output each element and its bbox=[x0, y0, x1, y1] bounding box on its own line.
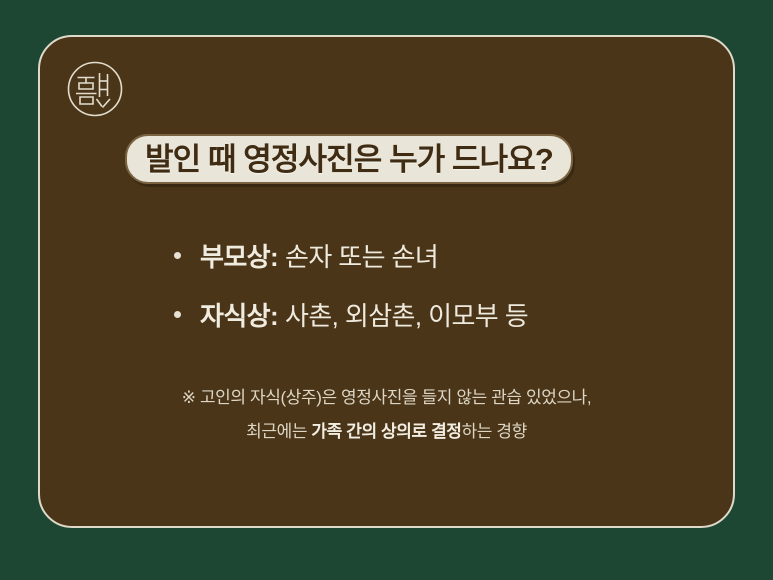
answer-bullet-list: 부모상: 손자 또는 손녀 자식상: 사촌, 외삼촌, 이모부 등 bbox=[174, 237, 694, 355]
content-card: 발인 때 영정사진은 누가 드나요? 부모상: 손자 또는 손녀 자식상: 사촌… bbox=[38, 35, 735, 528]
footnote-line-2: 최근에는 가족 간의 상의로 결정하는 경향 bbox=[40, 423, 733, 440]
list-item: 부모상: 손자 또는 손녀 bbox=[174, 237, 694, 274]
slide-canvas: 발인 때 영정사진은 누가 드나요? 부모상: 손자 또는 손녀 자식상: 사촌… bbox=[0, 0, 773, 580]
footnote-line-2-suffix: 하는 경향 bbox=[462, 422, 527, 441]
bullet-term: 부모상: bbox=[200, 237, 278, 274]
brand-emblem-logo bbox=[66, 60, 124, 118]
footnote-line-1-text: 고인의 자식(상주)은 영정사진을 들지 않는 관습 있었으나, bbox=[200, 388, 591, 407]
bullet-term: 자식상: bbox=[200, 296, 278, 333]
footnote-line-1: ※ 고인의 자식(상주)은 영정사진을 들지 않는 관습 있었으나, bbox=[40, 389, 733, 406]
bullet-dot-icon bbox=[174, 252, 181, 259]
bullet-description: 사촌, 외삼촌, 이모부 등 bbox=[285, 296, 528, 333]
bullet-dot-icon bbox=[174, 311, 181, 318]
footnote-block: ※ 고인의 자식(상주)은 영정사진을 들지 않는 관습 있었으나, 최근에는 … bbox=[40, 389, 733, 440]
page-title: 발인 때 영정사진은 누가 드나요? bbox=[145, 144, 553, 175]
list-item: 자식상: 사촌, 외삼촌, 이모부 등 bbox=[174, 296, 694, 333]
bullet-description: 손자 또는 손녀 bbox=[285, 237, 438, 274]
reference-mark-icon: ※ bbox=[182, 388, 196, 407]
footnote-line-2-prefix: 최근에는 bbox=[246, 422, 311, 441]
footnote-line-2-emphasis: 가족 간의 상의로 결정 bbox=[311, 422, 461, 441]
question-title-banner: 발인 때 영정사진은 누가 드나요? bbox=[125, 134, 573, 184]
